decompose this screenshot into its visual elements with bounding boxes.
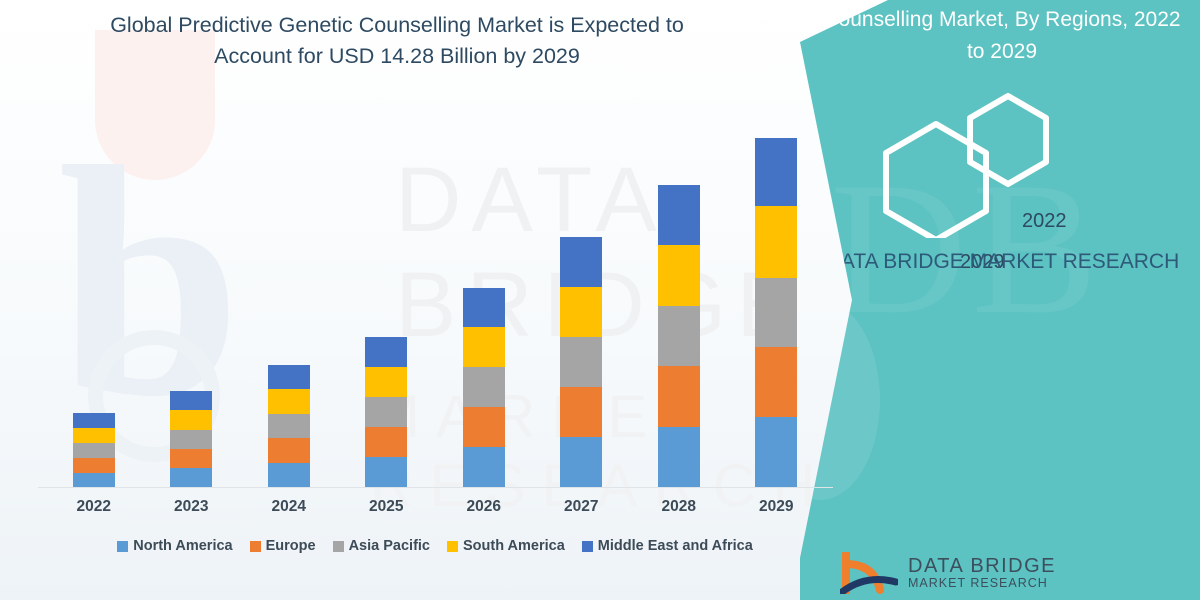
x-axis-label-2026: 2026 bbox=[435, 498, 533, 516]
legend-label: South America bbox=[463, 538, 565, 554]
plot-area bbox=[45, 110, 825, 488]
bar-segment bbox=[463, 288, 505, 327]
stacked-bar-2028 bbox=[658, 185, 700, 488]
x-axis-label-2022: 2022 bbox=[45, 498, 143, 516]
legend-label: Europe bbox=[266, 538, 316, 554]
bar-segment bbox=[170, 391, 212, 410]
bar-segment bbox=[268, 365, 310, 389]
bar-segment bbox=[560, 237, 602, 287]
stacked-bars-group bbox=[45, 110, 825, 488]
legend-swatch-icon bbox=[333, 541, 344, 552]
legend-label: Middle East and Africa bbox=[598, 538, 753, 554]
chart-legend: North AmericaEuropeAsia PacificSouth Ame… bbox=[45, 538, 825, 554]
bar-segment bbox=[365, 337, 407, 367]
bar-segment bbox=[658, 245, 700, 306]
bar-slot bbox=[728, 110, 826, 488]
bar-segment bbox=[560, 337, 602, 387]
x-axis-label-2027: 2027 bbox=[533, 498, 631, 516]
bar-segment bbox=[755, 138, 797, 206]
x-axis-label-2028: 2028 bbox=[630, 498, 728, 516]
legend-item[interactable]: Asia Pacific bbox=[333, 538, 430, 554]
legend-item[interactable]: South America bbox=[447, 538, 565, 554]
branding-panel: DB Counselling Market, By Regions, 2022 … bbox=[800, 0, 1200, 600]
bar-segment bbox=[463, 407, 505, 447]
bar-segment bbox=[73, 473, 115, 488]
bar-segment bbox=[170, 468, 212, 488]
bar-segment bbox=[170, 430, 212, 449]
legend-swatch-icon bbox=[582, 541, 593, 552]
bar-segment bbox=[560, 387, 602, 437]
chart-panel: b DATA BRIDGE MARKET RESEARCH Global Pre… bbox=[0, 0, 880, 600]
stacked-bar-2022 bbox=[73, 413, 115, 488]
bar-segment bbox=[658, 185, 700, 245]
bar-segment bbox=[560, 287, 602, 337]
logo-line-market-research: MARKET RESEARCH bbox=[908, 577, 1056, 591]
stacked-bar-2027 bbox=[560, 237, 602, 488]
bar-segment bbox=[73, 428, 115, 443]
panel-title: Counselling Market, By Regions, 2022 to … bbox=[822, 4, 1182, 67]
legend-swatch-icon bbox=[447, 541, 458, 552]
bar-segment bbox=[658, 366, 700, 427]
bar-segment bbox=[463, 327, 505, 367]
bar-segment bbox=[268, 389, 310, 414]
legend-swatch-icon bbox=[250, 541, 261, 552]
legend-item[interactable]: Middle East and Africa bbox=[582, 538, 753, 554]
bar-segment bbox=[755, 206, 797, 278]
bar-slot bbox=[630, 110, 728, 488]
x-axis-label-2029: 2029 bbox=[728, 498, 826, 516]
hexagon-2022-shape bbox=[970, 96, 1046, 184]
stacked-bar-2026 bbox=[463, 288, 505, 488]
bar-segment bbox=[170, 410, 212, 430]
stacked-bar-2024 bbox=[268, 365, 310, 488]
bar-segment bbox=[268, 438, 310, 463]
bar-segment bbox=[658, 427, 700, 488]
bar-segment bbox=[268, 414, 310, 438]
bar-segment bbox=[365, 427, 407, 457]
logo-line-data-bridge: DATA BRIDGE bbox=[908, 555, 1056, 577]
bar-segment bbox=[365, 457, 407, 488]
legend-item[interactable]: North America bbox=[117, 538, 232, 554]
x-axis-label-2025: 2025 bbox=[338, 498, 436, 516]
hexagon-outlines-icon bbox=[840, 88, 1160, 238]
bar-segment bbox=[463, 367, 505, 407]
bar-segment bbox=[73, 443, 115, 458]
bar-segment bbox=[755, 347, 797, 417]
bar-segment bbox=[365, 367, 407, 397]
bar-segment bbox=[463, 447, 505, 488]
bar-slot bbox=[240, 110, 338, 488]
databridge-logo: DATA BRIDGE MARKET RESEARCH bbox=[840, 552, 1056, 594]
bar-slot bbox=[338, 110, 436, 488]
hexagon-2022-label: 2022 bbox=[1022, 210, 1067, 233]
bar-segment bbox=[755, 417, 797, 488]
bar-slot bbox=[533, 110, 631, 488]
brand-name: DATA BRIDGE MARKET RESEARCH bbox=[820, 248, 1185, 276]
x-axis-tick-labels: 20222023202420252026202720282029 bbox=[45, 498, 825, 516]
bar-segment bbox=[268, 463, 310, 488]
bar-segment bbox=[73, 458, 115, 473]
bar-segment bbox=[658, 306, 700, 366]
bar-segment bbox=[73, 413, 115, 428]
x-axis-label-2024: 2024 bbox=[240, 498, 338, 516]
bar-slot bbox=[143, 110, 241, 488]
stacked-bar-2025 bbox=[365, 337, 407, 488]
stacked-bar-2023 bbox=[170, 391, 212, 488]
legend-item[interactable]: Europe bbox=[250, 538, 316, 554]
bar-segment bbox=[365, 397, 407, 427]
bridge-logo-icon bbox=[840, 552, 898, 594]
x-axis-line bbox=[38, 487, 833, 488]
hexagon-group: 2022 2029 bbox=[840, 88, 1160, 228]
stacked-bar-2029 bbox=[755, 138, 797, 488]
bar-segment bbox=[560, 437, 602, 488]
bar-segment bbox=[170, 449, 212, 468]
legend-label: North America bbox=[133, 538, 232, 554]
bar-segment bbox=[755, 278, 797, 347]
logo-text-block: DATA BRIDGE MARKET RESEARCH bbox=[908, 555, 1056, 591]
legend-swatch-icon bbox=[117, 541, 128, 552]
infographic-canvas: b DATA BRIDGE MARKET RESEARCH Global Pre… bbox=[0, 0, 1200, 600]
bar-slot bbox=[45, 110, 143, 488]
x-axis-label-2023: 2023 bbox=[143, 498, 241, 516]
legend-label: Asia Pacific bbox=[349, 538, 430, 554]
bar-slot bbox=[435, 110, 533, 488]
chart-title: Global Predictive Genetic Counselling Ma… bbox=[72, 10, 722, 72]
